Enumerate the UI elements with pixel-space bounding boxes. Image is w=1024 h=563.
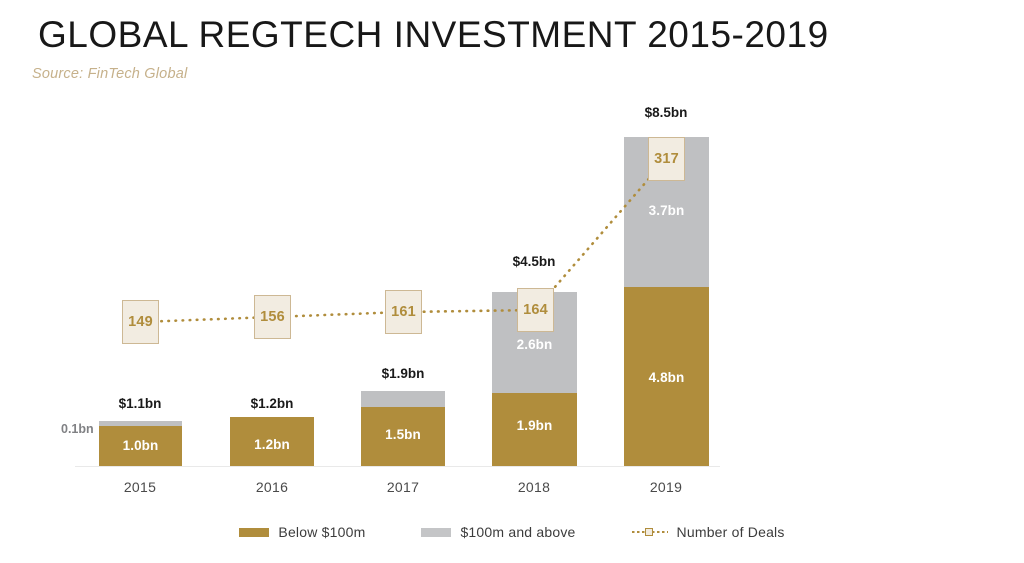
x-axis-label-2017: 2017: [333, 479, 473, 495]
x-axis-label-2018: 2018: [464, 479, 604, 495]
deal-marker-2019[interactable]: 317: [648, 137, 685, 181]
bar-segment-below-100m-2016[interactable]: [230, 417, 314, 466]
bar-segment-below-100m-2019[interactable]: [624, 287, 709, 466]
regtech-investment-chart: GLOBAL REGTECH INVESTMENT 2015-2019 Sour…: [0, 0, 1024, 563]
deal-marker-value: 317: [654, 151, 679, 167]
legend-item-number-of-deals[interactable]: Number of Deals: [632, 524, 785, 540]
bar-total-2018: $4.5bn: [464, 254, 604, 269]
legend-label: Number of Deals: [677, 524, 785, 540]
legend-label: $100m and above: [460, 524, 575, 540]
bar-segment-below-100m-2015[interactable]: [99, 426, 182, 466]
dotted-line-marker-icon: [632, 527, 668, 538]
square-swatch-icon: [421, 528, 451, 537]
bar-group-2017[interactable]: 1.5bn: [361, 391, 445, 466]
deal-marker-value: 149: [128, 314, 153, 330]
x-axis-label-2019: 2019: [596, 479, 736, 495]
deal-marker-2015[interactable]: 149: [122, 300, 159, 344]
chart-legend: Below $100m $100m and above Number of De…: [0, 524, 1024, 540]
bar-group-2019[interactable]: 3.7bn 4.8bn: [624, 137, 709, 466]
legend-label: Below $100m: [278, 524, 365, 540]
bar-segment-above-100m-2017[interactable]: [361, 391, 445, 407]
bar-total-2015: $1.1bn: [70, 396, 210, 411]
bar-total-2017: $1.9bn: [333, 366, 473, 381]
bar-total-2016: $1.2bn: [202, 396, 342, 411]
x-axis-line: [75, 466, 720, 467]
bar-group-2015[interactable]: 1.0bn: [99, 421, 182, 466]
bar-segment-below-100m-2017[interactable]: [361, 407, 445, 466]
deal-marker-value: 156: [260, 309, 285, 325]
legend-item-above-100m[interactable]: $100m and above: [421, 524, 575, 540]
bar-label-above-100m-2015: 0.1bn: [61, 422, 94, 436]
deal-marker-2018[interactable]: 164: [517, 288, 554, 332]
deal-marker-2017[interactable]: 161: [385, 290, 422, 334]
bar-group-2016[interactable]: 1.2bn: [230, 417, 314, 466]
deal-marker-value: 161: [391, 304, 416, 320]
bar-total-2019: $8.5bn: [596, 105, 736, 120]
bar-segment-below-100m-2018[interactable]: [492, 393, 577, 466]
deal-marker-2016[interactable]: 156: [254, 295, 291, 339]
deal-marker-value: 164: [523, 302, 548, 318]
square-swatch-icon: [239, 528, 269, 537]
x-axis-label-2016: 2016: [202, 479, 342, 495]
plot-area: 1.0bn 0.1bn $1.1bn 2015 1.2bn $1.2bn 201…: [0, 0, 1024, 563]
legend-item-below-100m[interactable]: Below $100m: [239, 524, 365, 540]
x-axis-label-2015: 2015: [70, 479, 210, 495]
